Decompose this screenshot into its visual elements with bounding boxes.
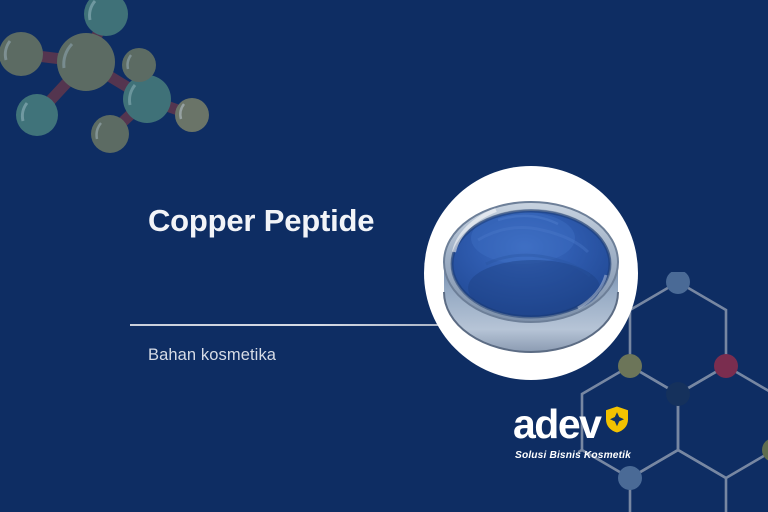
poster-canvas: Copper Peptide Bahan kosmetika adev Solu…	[0, 0, 768, 512]
product-image-circle	[424, 166, 638, 380]
divider-line	[130, 324, 442, 326]
logo-wordmark: adev	[513, 404, 600, 445]
logo-tagline: Solusi Bisnis Kosmetik	[515, 450, 631, 461]
shield-icon	[605, 406, 629, 433]
molecule-icon	[0, 0, 224, 162]
page-title: Copper Peptide	[148, 204, 374, 238]
petri-dish-image	[438, 180, 624, 366]
brand-logo[interactable]: adev Solusi Bisnis Kosmetik	[513, 404, 643, 470]
page-subtitle: Bahan kosmetika	[148, 346, 276, 365]
